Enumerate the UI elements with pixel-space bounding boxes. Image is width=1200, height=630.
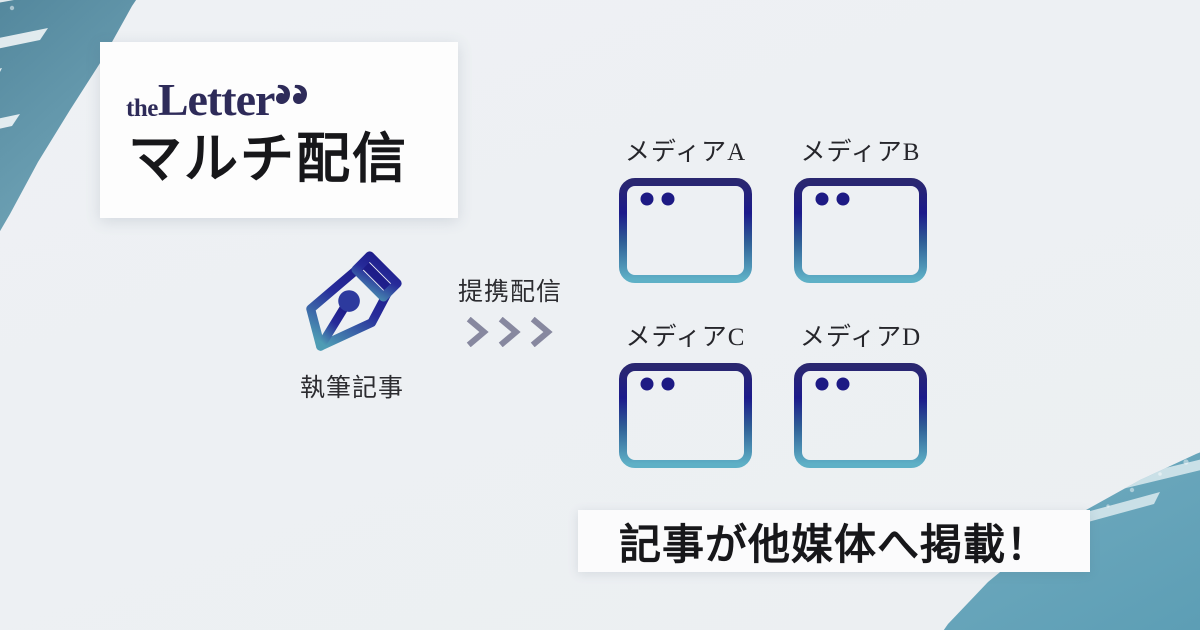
media-outlet-item: メディアB: [773, 132, 948, 317]
source-article-block: 執筆記事: [276, 244, 428, 404]
media-outlet-grid: メディアA メディアB: [598, 132, 948, 502]
card-headline: マルチ配信: [128, 131, 408, 188]
double-quote-icon: [275, 79, 309, 113]
media-outlet-label: メディアC: [598, 317, 773, 353]
browser-window-icon: [793, 177, 928, 284]
media-outlet-label: メディアD: [773, 317, 948, 353]
bottom-banner-text: 記事が他媒体へ掲載！: [619, 511, 1049, 572]
chevron-right-icon: [497, 317, 523, 347]
media-outlet-label: メディアB: [773, 132, 948, 168]
chevron-right-icon: [465, 317, 491, 347]
browser-window-icon: [793, 362, 928, 469]
browser-window-icon: [618, 177, 753, 284]
media-outlet-item: メディアD: [773, 317, 948, 502]
distribution-label: 提携配信: [437, 272, 583, 308]
logo-card: the Letter マルチ配信: [100, 42, 458, 218]
theletter-wordmark: the Letter: [126, 77, 309, 123]
wordmark-letter: Letter: [158, 77, 275, 123]
distribution-arrow-block: 提携配信: [437, 272, 583, 347]
promo-graphic-canvas: the Letter マルチ配信: [0, 0, 1200, 630]
wordmark-the: the: [126, 96, 158, 123]
chevron-right-icon: [529, 317, 555, 347]
media-outlet-item: メディアC: [598, 317, 773, 502]
bottom-banner: 記事が他媒体へ掲載！: [578, 510, 1090, 572]
chevron-group: [437, 317, 583, 347]
browser-window-icon: [618, 362, 753, 469]
brush-stroke-bottom-right-icon: [910, 370, 1200, 630]
media-outlet-item: メディアA: [598, 132, 773, 317]
source-article-label: 執筆記事: [276, 368, 428, 404]
pen-nib-icon: [293, 244, 411, 362]
media-outlet-label: メディアA: [598, 132, 773, 168]
